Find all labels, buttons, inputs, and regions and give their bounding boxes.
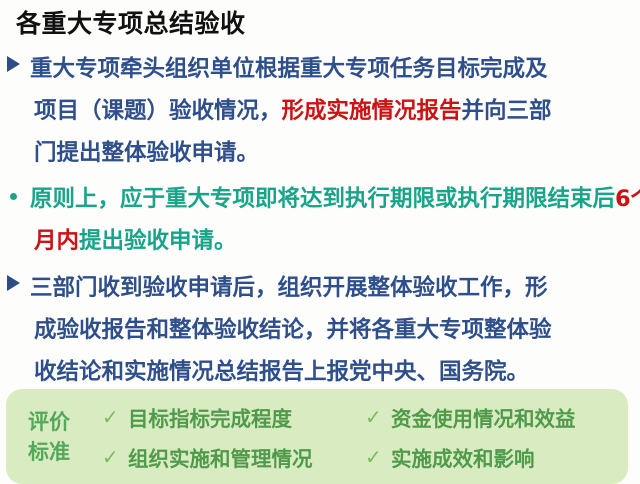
criteria-columns: ✓ 目标指标完成程度 ✓ 组织实施和管理情况 ✓ 资金使用情况和效益 ✓ 实施成… (102, 397, 628, 477)
criteria-list-item: ✓ 目标指标完成程度 (102, 397, 365, 437)
text-run: 原则上，应于重大专项即将达到执行期限或执行期限结束后 (30, 186, 615, 212)
bullet-2-line-2: 月内提出验收申请。 (30, 220, 640, 262)
text-run-highlight: 6个 (615, 186, 640, 212)
arrow-marker-icon (7, 275, 20, 291)
criteria-item-label: 组织实施和管理情况 (128, 442, 313, 472)
text-run: 提出验收申请。 (79, 228, 237, 254)
page-title: 各重大专项总结验收 (16, 4, 246, 40)
bullet-item-3: 三部门收到验收申请后，组织开展整体验收工作，形 成验收报告和整体验收结论，并将各… (0, 267, 640, 393)
dot-marker-icon (10, 193, 17, 200)
arrow-marker-icon (7, 56, 20, 72)
check-icon: ✓ (102, 445, 128, 469)
bullet-item-2: 原则上，应于重大专项即将达到执行期限或执行期限结束后6个 月内提出验收申请。 (0, 178, 640, 262)
check-icon: ✓ (102, 405, 128, 429)
text-run-highlight: 形成实施情况报告 (282, 98, 462, 124)
text-run: 并向三部 (462, 98, 552, 124)
text-run: 三部门收到验收申请后，组织开展整体验收工作，形 (30, 275, 548, 301)
text-run: 重大专项牵头组织单位根据重大专项任务目标完成及 (30, 56, 548, 82)
text-run: 成验收报告和整体验收结论，并将各重大专项整体验 (34, 317, 552, 343)
text-run: 项目（课题）验收情况， (34, 98, 282, 124)
criteria-label-line-1: 评价 (28, 407, 102, 437)
criteria-list-item: ✓ 组织实施和管理情况 (102, 437, 365, 477)
criteria-column-right: ✓ 资金使用情况和效益 ✓ 实施成效和影响 (365, 397, 628, 477)
criteria-label-line-2: 标准 (28, 437, 102, 467)
bullet-1-line-1: 重大专项牵头组织单位根据重大专项任务目标完成及 (30, 48, 640, 90)
criteria-panel: 评价 标准 ✓ 目标指标完成程度 ✓ 组织实施和管理情况 ✓ 资金使用情况和效益 (6, 389, 628, 484)
bullet-3-line-3: 收结论和实施情况总结报告上报党中央、国务院。 (30, 351, 640, 393)
criteria-panel-label: 评价 标准 (6, 407, 102, 467)
check-icon: ✓ (365, 405, 391, 429)
bullet-2-line-1: 原则上，应于重大专项即将达到执行期限或执行期限结束后6个 (30, 178, 640, 220)
check-icon: ✓ (365, 445, 391, 469)
bullet-item-1: 重大专项牵头组织单位根据重大专项任务目标完成及 项目（课题）验收情况，形成实施情… (0, 48, 640, 174)
slide-canvas: 各重大专项总结验收 重大专项牵头组织单位根据重大专项任务目标完成及 项目（课题）… (0, 0, 640, 478)
text-run: 门提出整体验收申请。 (34, 140, 259, 166)
text-run-highlight: 月内 (34, 228, 79, 254)
criteria-item-label: 目标指标完成程度 (128, 402, 292, 432)
criteria-item-label: 资金使用情况和效益 (391, 402, 576, 432)
criteria-item-label: 实施成效和影响 (391, 442, 535, 472)
bullet-3-line-1: 三部门收到验收申请后，组织开展整体验收工作，形 (30, 267, 640, 309)
criteria-list-item: ✓ 实施成效和影响 (365, 437, 628, 477)
slide-body: 重大专项牵头组织单位根据重大专项任务目标完成及 项目（课题）验收情况，形成实施情… (0, 48, 640, 393)
bullet-1-line-2: 项目（课题）验收情况，形成实施情况报告并向三部 (30, 90, 640, 132)
text-run: 收结论和实施情况总结报告上报党中央、国务院。 (34, 359, 529, 385)
bullet-1-line-3: 门提出整体验收申请。 (30, 132, 640, 174)
bullet-3-line-2: 成验收报告和整体验收结论，并将各重大专项整体验 (30, 309, 640, 351)
criteria-list-item: ✓ 资金使用情况和效益 (365, 397, 628, 437)
criteria-column-left: ✓ 目标指标完成程度 ✓ 组织实施和管理情况 (102, 397, 365, 477)
